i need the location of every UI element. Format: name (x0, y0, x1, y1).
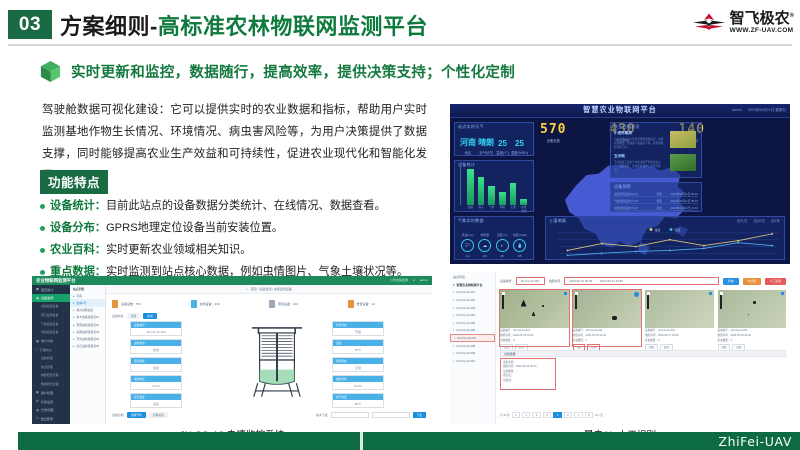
line-chart-header: 土壤墒情 (549, 218, 566, 224)
user-avatar[interactable]: ● (413, 278, 415, 282)
gauge-list: 风速(m/s)🏳3.2 降雨量☁0.0 温度(℃)◐25 湿度(%RH)💧65 (459, 233, 529, 258)
card-count: 害虫数量：2 (718, 339, 787, 343)
list-item: 农业百科：实时更新农业领域相关知识。 (40, 240, 440, 262)
feature-key: 设备统计 (50, 200, 95, 212)
temperature-icon: ◐ (496, 239, 509, 252)
stat-label: 地区 (460, 150, 476, 155)
tree-item-selected[interactable]: ▾虫情1号 (70, 299, 105, 306)
card-count: 害虫数量：3 (500, 339, 569, 343)
card-time: 拍照时间：2023-05-15 02:00 (500, 334, 569, 338)
insect-monitor-screenshot: 农业物联网监测平台 公司虫情监测 ● admin ▣首页统计 ▤设备监测 虫情监… (32, 276, 432, 424)
card-device: 设备编号：JN-CQ-A2-001 (573, 329, 642, 333)
device-icon: ▪ (454, 336, 455, 340)
folder-icon: ▸ (73, 323, 74, 327)
humidity-icon: 💧 (513, 239, 526, 252)
kv-card: 温度25℃ (332, 339, 384, 354)
range-tab-7d[interactable]: 近七日 (737, 219, 748, 224)
bar-chart-bars (467, 165, 527, 205)
folder-icon: ▸ (73, 294, 74, 298)
tree-item[interactable]: ▸安阳虫情监测点02 (70, 321, 105, 328)
table-row: 虫情监测设备ZQ-01 离线 2023年06月11日 09:20 (614, 191, 698, 197)
kv-card: 运行模式自动 (130, 357, 182, 372)
kv-card: 拍照时间02:00 (332, 375, 384, 390)
stat-value: 晴朗 (478, 137, 494, 148)
card-count: 害虫数量：1 (573, 339, 642, 343)
bar (478, 177, 485, 205)
gauge-caption: 风速(m/s) (461, 233, 474, 237)
card-time: 拍照时间：2023-05-16 02:00 (573, 334, 642, 338)
folder-icon: ▾ (453, 283, 454, 287)
tree-item[interactable]: ▸商丘虫情监测点05 (70, 343, 105, 350)
tree-item[interactable]: ▸河南 (70, 292, 105, 299)
stat-label: 温度(℃) (496, 150, 509, 155)
tree-item[interactable]: ▸洛阳虫情监测点03 (70, 328, 105, 335)
device-detail-pane: ⌂首页 / 设备监测 / 虫情监测设备 设备总数：570 在线设备：430 离线… (106, 285, 432, 424)
insect-photo-cards: 设备编号：JN-CQ-A2-001 拍照时间：2023-05-15 02:00 … (500, 290, 786, 346)
dashboard-date: 2023年06月11日 星期日 (748, 108, 786, 113)
news-item[interactable]: 玉米螟 玉米螟是玉米生产中危害最严重的害虫之一，钻蛀茎秆，造成折秆减产，需及时防… (614, 154, 698, 172)
eagle-star-icon (692, 11, 726, 35)
gauge-caption: 湿度(%RH) (513, 233, 527, 237)
remote-power-off-button[interactable]: 远程关机 (149, 412, 168, 418)
topbar-user: admin (420, 278, 428, 282)
cube-icon (40, 60, 61, 83)
kv-card: 灯管状态开启 (332, 321, 384, 336)
stat-value: 25 (496, 139, 509, 148)
line-chart-range-tabs[interactable]: 近七日 近30日 近1年 (737, 219, 780, 224)
cell-time: 2023年06月11日 08:45 (671, 199, 699, 203)
kv-value: 开启 (333, 328, 383, 337)
sidebar-item-device-monitor[interactable]: ▤设备监测 (32, 294, 70, 303)
cell-status: 离线 (657, 192, 667, 196)
device-icon: ▪ (453, 290, 454, 294)
bar-label: 气象 (488, 205, 495, 211)
alarm-icon (348, 300, 354, 308)
bullet-dot-icon (40, 226, 45, 231)
ai-tree-item[interactable]: ▪JN-CQ-A2-003 (450, 304, 495, 312)
logo-text-block: 智飞极农® WWW.ZF-UAV.COM (730, 11, 794, 35)
stat-card: 在线设备：430 (191, 297, 270, 310)
cell-device: 气象监测设备QX-03 (614, 199, 653, 203)
insect-photo-thumbnail[interactable] (500, 290, 569, 328)
insect-ai-screenshot: 站点列表 ▾智慧农业物联网平台 ▪JN-CQ-A2-001 ▪JN-CQ-A2-… (450, 272, 790, 424)
kv-value: 良好 (131, 400, 181, 409)
bar-label: 孢子 (478, 205, 485, 211)
stat-card: 告警设备：12 (348, 297, 427, 310)
feature-value: 目前此站点的设备数据分类统计、在线情况、数据查看。 (106, 200, 386, 212)
sidebar-item-param-config[interactable]: 参数配置管理 (32, 371, 70, 380)
kv-value: 在线 (131, 346, 181, 355)
subtitle-text: 实时更新和监控，数据随行，提高效率，提供决策支持；个性化定制 (71, 61, 515, 82)
stat-item: 晴朗天气状况 (478, 137, 494, 155)
features-badge: 功能特点 (40, 170, 108, 194)
photo-card[interactable]: 设备编号：JN-CQ-A2-001 拍照时间：2023-05-18 02:00 … (718, 290, 787, 346)
command-label: 指令下发 (316, 413, 328, 417)
filter-chip-online[interactable]: 在线 (143, 313, 157, 319)
table-row: 墒情监测设备SQ-02 离线 2023年06月10日 21:10 (614, 205, 698, 211)
device-stat-cards: 设备总数：570 在线设备：430 离线设备：140 告警设备：12 (112, 297, 426, 310)
weather-stats: 河南地区 晴朗天气状况 25温度(℃) 25湿度(%RH) (459, 137, 529, 155)
page-button[interactable]: 3 (532, 412, 540, 418)
photo-card[interactable]: 设备编号：JN-CQ-A2-001 拍照时间：2023-05-16 02:00 … (573, 290, 642, 346)
sidebar-item-home[interactable]: ▣首页统计 (32, 285, 70, 294)
feature-value: GPRS地理定位设备当前安装位置。 (106, 222, 283, 234)
cell-time: 2023年06月11日 09:20 (671, 192, 699, 196)
card-count: 害虫数量：0 (645, 339, 714, 343)
list-item: 设备统计：目前此站点的设备数据分类统计、在线情况、数据查看。 (40, 196, 440, 218)
photo-card[interactable]: 设备编号：JN-CQ-A2-001 拍照时间：2023-05-15 02:00 … (500, 290, 569, 346)
feature-key: 农业百科 (50, 244, 95, 256)
page-button[interactable]: 7 (574, 412, 582, 418)
bullet-dot-icon (40, 248, 45, 253)
tree-header: 站点列表 (70, 285, 105, 292)
sidebar-item-logs[interactable]: ▥日志管理 (32, 405, 70, 414)
news-panel-header: 农业百科资讯 (614, 124, 640, 130)
stat-item: 河南地区 (460, 137, 476, 155)
bar (488, 186, 495, 205)
ai-tree-item[interactable]: ▪JN-CQ-A2-010 (450, 357, 495, 365)
folder-icon: ▸ (73, 337, 74, 341)
command-input-1[interactable] (331, 412, 369, 418)
tree-item[interactable]: ▸郑州试验站点 (70, 307, 105, 314)
filter-label: 设备状态 (112, 314, 124, 318)
logo-registered-mark: ® (790, 13, 794, 19)
photo-card[interactable]: 设备编号：JN-CQ-A2-001 拍照时间：2023-05-17 02:00 … (645, 290, 714, 346)
ai-tree-item-selected[interactable]: ▪JN-CQ-A2-007 (450, 334, 495, 342)
rain-icon: ☁ (478, 239, 491, 252)
page-button[interactable]: 2 (522, 412, 530, 418)
page-button[interactable]: 1 (512, 412, 520, 418)
gauge-value: 3.2 (461, 254, 474, 258)
ai-tree-item[interactable]: ▪JN-CQ-A2-001 (450, 289, 495, 297)
kv-card: 雨控状态正常 (332, 357, 384, 372)
app-title: 农业物联网监测平台 (36, 278, 76, 284)
stat-item: 25温度(℃) (496, 139, 509, 155)
bar-chart-labels: 虫情 孢子 气象 墒情 土壤 水质监测 (467, 205, 527, 211)
cell-status: 离线 (657, 206, 667, 210)
sidebar-item-spore-device[interactable]: 孢子监测设备 (32, 311, 70, 320)
kv-value: 自动 (131, 364, 181, 373)
dashboard-screenshot: 智慧农业物联网平台 admin 2023年06月11日 星期日 站点实时天气 河… (450, 104, 790, 264)
page-title-accent: 高标准农林物联网监测平台 (158, 14, 428, 39)
kpi-label: 设备总数 (540, 138, 566, 143)
device-icon: ▪ (453, 298, 454, 302)
bar (467, 169, 474, 205)
ai-tree-item[interactable]: ▪JN-CQ-A2-006 (450, 327, 495, 335)
kv-card: 烘干温度80℃ (332, 393, 384, 408)
filter-chip-all[interactable]: 全部 (127, 313, 141, 319)
gauge-panel-header: 气象实时数据 (458, 218, 484, 224)
device-icon: ▪ (453, 359, 454, 363)
folder-icon: ▸ (73, 344, 74, 348)
kpi-value: 570 (540, 122, 566, 137)
stat-label: 天气状况 (478, 150, 494, 155)
device-status-filter: 设备状态 全部 在线 (112, 313, 157, 319)
insect-photo-thumbnail[interactable] (645, 290, 714, 328)
device-filter-select[interactable]: JN-CQ-A2-001 (516, 277, 545, 285)
manual-recognize-button[interactable]: 人工识别 (765, 278, 786, 285)
cell-time: 2023年06月10日 21:10 (671, 206, 699, 210)
feature-sep: ： (95, 200, 106, 212)
sidebar-item-soil-device[interactable]: 墒情监测设备 (32, 328, 70, 337)
sidebar-item-device-mgmt[interactable]: 设备管理 (32, 354, 70, 363)
date-filter-label: 拍照时间 (549, 279, 561, 283)
card-time: 拍照时间：2023-05-17 02:00 (645, 334, 714, 338)
kv-value: 正常 (333, 364, 383, 373)
stat-value: 河南 (460, 137, 476, 148)
logo-website: WWW.ZF-UAV.COM (730, 28, 794, 35)
features-list: 设备统计：目前此站点的设备数据分类统计、在线情况、数据查看。 设备分布：GPRS… (40, 196, 440, 283)
control-label: 设备控制 (112, 413, 124, 417)
ai-tree-item[interactable]: ▪JN-CQ-A2-004 (450, 311, 495, 319)
ai-site-tree: 站点列表 ▾智慧农业物联网平台 ▪JN-CQ-A2-001 ▪JN-CQ-A2-… (450, 272, 496, 424)
recognition-result-header: 识别结果 (500, 350, 786, 357)
ai-tree-root[interactable]: ▾智慧农业物联网平台 (450, 281, 495, 289)
stat-card: 离线设备：140 (269, 297, 348, 310)
news-body: 小麦赤霉病是小麦生长期间重要病害，主要危害穗部，造成减产和品质下降，应提前做好预… (614, 138, 664, 149)
wind-icon: 🏳 (461, 239, 474, 252)
corn-photo (670, 154, 696, 171)
table-row: 气象监测设备QX-03 报警 2023年06月11日 08:45 (614, 198, 698, 204)
page-title: 方案细则-高标准农林物联网监测平台 (60, 9, 428, 41)
kv-value: 02:00 (333, 382, 383, 391)
gauge-value: 25 (496, 254, 509, 258)
kv-value: 25℃ (333, 346, 383, 355)
device-icon: ▪ (453, 313, 454, 317)
news-item[interactable]: 小麦赤霉病 小麦赤霉病是小麦生长期间重要病害，主要危害穗部，造成减产和品质下降，… (614, 131, 698, 149)
breadcrumb-icon: ⌂ (246, 287, 248, 291)
folder-icon: ▸ (73, 330, 74, 334)
subtitle-row: 实时更新和监控，数据随行，提高效率，提供决策支持；个性化定制 (40, 60, 515, 83)
insect-photo-thumbnail[interactable] (718, 290, 787, 328)
device-icon: ▪ (453, 321, 454, 325)
slide-header: 03 方案细则-高标准农林物联网监测平台 智飞极农® WWW.ZF-UAV.CO… (0, 0, 800, 48)
section-number-badge: 03 (8, 10, 52, 39)
stat-label: 湿度(%RH) (511, 150, 528, 155)
feature-sep: ： (95, 222, 106, 234)
feature-sep: ： (95, 244, 106, 256)
feature-key: 设备分布 (50, 222, 95, 234)
sidebar-item-site-mgmt[interactable]: 站点管理 (32, 362, 70, 371)
sidebar-item-export-mgmt[interactable]: 数据导出管理 (32, 380, 70, 389)
app-topbar: 农业物联网监测平台 公司虫情监测 ● admin (32, 276, 432, 285)
bar-chart-axis (460, 163, 461, 205)
query-button[interactable]: 查询 (723, 278, 739, 285)
sidebar-item-users[interactable]: ◉用户管理 (32, 388, 70, 397)
page-size-select[interactable]: 10 / 页 (595, 413, 603, 417)
device-icon: ▪ (453, 344, 454, 348)
line-chart-plot (548, 229, 782, 260)
agri-news-panel: 农业百科资讯 小麦赤霉病 小麦赤霉病是小麦生长期间重要病害，主要危害穗部，造成减… (610, 122, 702, 178)
monitor-icon: ▤ (36, 296, 39, 300)
user-icon: ◉ (36, 390, 39, 394)
kv-value: 12.6V (131, 382, 181, 391)
page-button[interactable]: 4 (543, 412, 551, 418)
app-topbar-right: 公司虫情监测 ● admin (390, 278, 428, 282)
kv-card: 设备状态在线 (130, 339, 182, 354)
detail-recognizer: 识别者： (503, 379, 553, 383)
tree-item[interactable]: ▸新乡虫情监测点01 (70, 314, 105, 321)
bar (510, 183, 517, 205)
topbar-company: 公司虫情监测 (390, 278, 408, 282)
cell-status: 报警 (657, 199, 667, 203)
dashboard-user: admin (732, 108, 742, 113)
ai-filter-bar: 设备编号 JN-CQ-A2-001 拍照时间 2023-05-01 00:00 … (500, 276, 786, 286)
stat-value: 25 (511, 139, 528, 148)
ai-main-pane: 设备编号 JN-CQ-A2-001 拍照时间 2023-05-01 00:00 … (496, 272, 790, 424)
chart-icon: ▦ (36, 339, 39, 343)
kv-value: 80℃ (333, 400, 383, 409)
sidebar-item-logout[interactable]: ⏻退出登录 (32, 414, 70, 423)
page-button-active[interactable]: 5 (553, 412, 561, 418)
date-to: 2023-05-31 23:59 (600, 279, 623, 283)
gear-icon: ⚙ (36, 399, 39, 403)
cell-device: 虫情监测设备ZQ-01 (614, 192, 653, 196)
date-range-input[interactable]: 2023-05-01 00:00 2023-05-31 23:59 (564, 277, 719, 285)
home-icon: ▣ (36, 287, 39, 291)
device-alarm-panel: 设备预警 虫情监测设备ZQ-01 离线 2023年06月11日 09:20 气象… (610, 182, 702, 212)
device-control-footer: 设备控制 远程开机 远程关机 指令下发 下发 (106, 410, 432, 420)
pagination-total: 共 50 条 (500, 413, 510, 417)
footer-bar (0, 432, 800, 450)
feature-value: 实时更新农业领域相关知识。 (106, 244, 251, 256)
card-device: 设备编号：JN-CQ-A2-001 (718, 329, 787, 333)
send-button[interactable]: 下发 (413, 412, 426, 418)
kv-value: JN-CQ-A2-001 (131, 328, 181, 337)
pagination: 共 50 条 1 2 3 4 5 6 7 8 10 / 页 (500, 412, 603, 418)
app-sidebar: ▣首页统计 ▤设备监测 虫情监测设备 孢子监测设备 气象监测设备 墒情监测设备 … (32, 285, 70, 424)
kv-card: 设备编号JN-CQ-A2-001 (130, 321, 182, 336)
soil-line-chart-panel: 土壤墒情 近七日 近30日 近1年 温度 湿度 (545, 216, 785, 260)
device-bar-chart-panel: 设备统计 虫情 孢子 气象 墒情 土壤 水质监测 (454, 160, 534, 212)
remote-power-on-button[interactable]: 远程开机 (127, 412, 146, 418)
offline-icon (269, 300, 275, 308)
ai-tree-item[interactable]: ▪JN-CQ-A2-002 (450, 296, 495, 304)
header-divider (8, 44, 792, 46)
weather-panel: 站点实时天气 河南地区 晴朗天气状况 25温度(℃) 25湿度(%RH) (454, 122, 534, 156)
download-icon: ⤓ (36, 347, 37, 351)
sidebar-item-weather-device[interactable]: 气象监测设备 (32, 319, 70, 328)
news-body: 玉米螟是玉米生产中危害最严重的害虫之一，钻蛀茎秆，造成折秆减产，需及时防治。 (614, 161, 664, 172)
sidebar-item-analysis[interactable]: ▦统计分析 (32, 337, 70, 346)
folder-icon: ▸ (73, 315, 74, 319)
date-from: 2023-05-01 00:00 (569, 279, 592, 283)
page-title-main: 方案细则 (60, 14, 150, 39)
insect-count-icon (112, 300, 118, 308)
folder-icon: ▸ (73, 308, 74, 312)
sidebar-item-settings[interactable]: ⚙系统设置 (32, 397, 70, 406)
bar-label: 墒情 (499, 205, 506, 211)
gauge-item: 降雨量☁0.0 (478, 233, 491, 258)
device-icon: ▪ (453, 328, 454, 332)
tree-item[interactable]: ▸开封虫情监测点04 (70, 335, 105, 342)
dashboard-topbar-right: admin 2023年06月11日 星期日 (732, 108, 786, 113)
bar-label: 水质监测 (520, 205, 527, 211)
insect-photo-thumbnail[interactable] (573, 290, 642, 328)
stat-card: 设备总数：570 (112, 297, 191, 310)
log-icon: ▥ (36, 408, 39, 412)
sidebar-item-insect-device[interactable]: 虫情监测设备 (32, 302, 70, 311)
bar (499, 192, 506, 205)
ai-tree-item[interactable]: ▪JN-CQ-A2-005 (450, 319, 495, 327)
breadcrumb: ⌂首页 / 设备监测 / 虫情监测设备 (106, 285, 432, 294)
sidebar-item-download[interactable]: ⤓下载中心 (32, 345, 70, 354)
gauge-item: 温度(℃)◐25 (496, 233, 509, 258)
stat-item: 25湿度(%RH) (511, 139, 528, 155)
ai-recognize-button[interactable]: AI识别 (743, 278, 761, 285)
gauge-caption: 降雨量 (478, 233, 491, 237)
range-tab-30d[interactable]: 近30日 (754, 219, 765, 224)
card-time: 拍照时间：2023-05-18 02:00 (718, 334, 787, 338)
ai-tree-item[interactable]: ▪JN-CQ-A2-009 (450, 349, 495, 357)
footer-brand-text: ZhiFei-UAV (718, 434, 792, 449)
cell-device: 墒情监测设备SQ-02 (614, 206, 653, 210)
device-icon: ▪ (453, 306, 454, 310)
bullet-dot-icon (40, 270, 45, 275)
card-device: 设备编号：JN-CQ-A2-001 (645, 329, 714, 333)
insect-trap-device-diagram (248, 321, 306, 399)
page-button[interactable]: 6 (564, 412, 572, 418)
weather-gauge-panel: 气象实时数据 风速(m/s)🏳3.2 降雨量☁0.0 温度(℃)◐25 湿度(%… (454, 216, 534, 260)
card-device: 设备编号：JN-CQ-A2-001 (500, 329, 569, 333)
bar-label: 土壤 (510, 205, 517, 211)
logout-icon: ⏻ (36, 416, 38, 420)
wheat-photo (670, 131, 696, 148)
list-item: 设备分布：GPRS地理定位设备当前安装位置。 (40, 218, 440, 240)
gauge-item: 湿度(%RH)💧65 (513, 233, 527, 258)
device-icon: ▪ (453, 351, 454, 355)
weather-panel-header: 站点实时天气 (458, 124, 484, 130)
range-tab-1y[interactable]: 近1年 (771, 219, 780, 224)
page-button[interactable]: 8 (585, 412, 593, 418)
command-input-2[interactable] (372, 412, 410, 418)
page-title-dash: - (150, 14, 158, 39)
folder-icon: ▾ (73, 301, 74, 305)
ai-tree-item[interactable]: ▪JN-CQ-A2-008 (450, 342, 495, 350)
kv-card: 电池电压12.6V (130, 375, 182, 390)
ai-tree-header: 站点列表 (450, 272, 495, 281)
gauge-item: 风速(m/s)🏳3.2 (461, 233, 474, 258)
online-icon (191, 300, 197, 308)
logo-name: 智飞极农® (730, 11, 794, 26)
kv-card: 信号强度良好 (130, 393, 182, 408)
bar-label: 虫情 (467, 205, 474, 211)
gauge-value: 0.0 (478, 254, 491, 258)
gauge-caption: 温度(℃) (496, 233, 509, 237)
device-filter-label: 设备编号 (500, 279, 512, 283)
alarm-panel-header: 设备预警 (614, 184, 631, 190)
brand-logo: 智飞极农® WWW.ZF-UAV.COM (692, 11, 794, 35)
site-tree: 站点列表 ▸河南 ▾虫情1号 ▸郑州试验站点 ▸新乡虫情监测点01 ▸安阳虫情监… (70, 285, 106, 424)
bullet-dot-icon (40, 204, 45, 209)
kpi-item: 570设备总数 (540, 122, 566, 143)
command-send-group: 指令下发 下发 (316, 412, 426, 418)
recognition-detail-box: 虫害名称： 拍照时间：2023-05-15 02:00 识别数量：-- 置信度：… (500, 358, 556, 390)
gauge-value: 65 (513, 254, 527, 258)
